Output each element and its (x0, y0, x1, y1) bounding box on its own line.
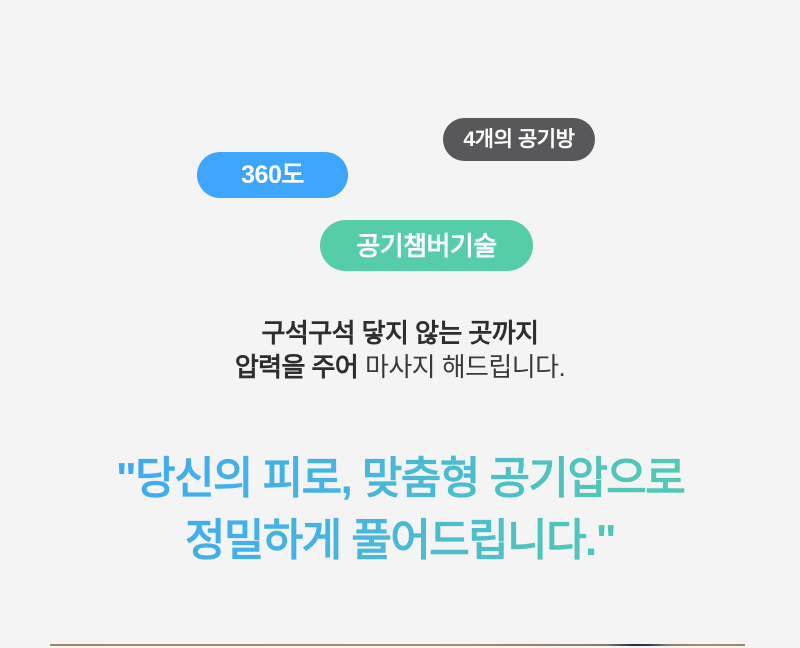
badge-air-chamber-tech-label: 공기챔버기술 (356, 233, 496, 259)
subcopy-line-2-strong: 압력을 주어 (235, 352, 365, 382)
badge-air-chambers: 4개의 공기방 (443, 118, 595, 161)
badge-degrees: 360도 (197, 152, 348, 198)
subcopy-line-2-light: 마사지 해드립니다. (365, 352, 565, 382)
headline-block: "당신의 피로, 맞춤형 공기압으로 정밀하게 풀어드립니다." (0, 448, 800, 573)
subcopy-line-1: 구석구석 닿지 않는 곳까지 (0, 316, 800, 350)
badge-degrees-label: 360도 (241, 163, 304, 188)
badge-air-chambers-label: 4개의 공기방 (463, 129, 574, 150)
bottom-divider (50, 644, 745, 646)
subcopy-line-2: 압력을 주어 마사지 해드립니다. (0, 350, 800, 384)
badge-air-chamber-tech: 공기챔버기술 (320, 220, 533, 271)
headline-line-2: 정밀하게 풀어드립니다." (0, 510, 800, 572)
promo-banner: 4개의 공기방 360도 공기챔버기술 구석구석 닿지 않는 곳까지 압력을 주… (0, 0, 800, 648)
headline-line-1: "당신의 피로, 맞춤형 공기압으로 (0, 448, 800, 510)
subcopy-block: 구석구석 닿지 않는 곳까지 압력을 주어 마사지 해드립니다. (0, 316, 800, 385)
